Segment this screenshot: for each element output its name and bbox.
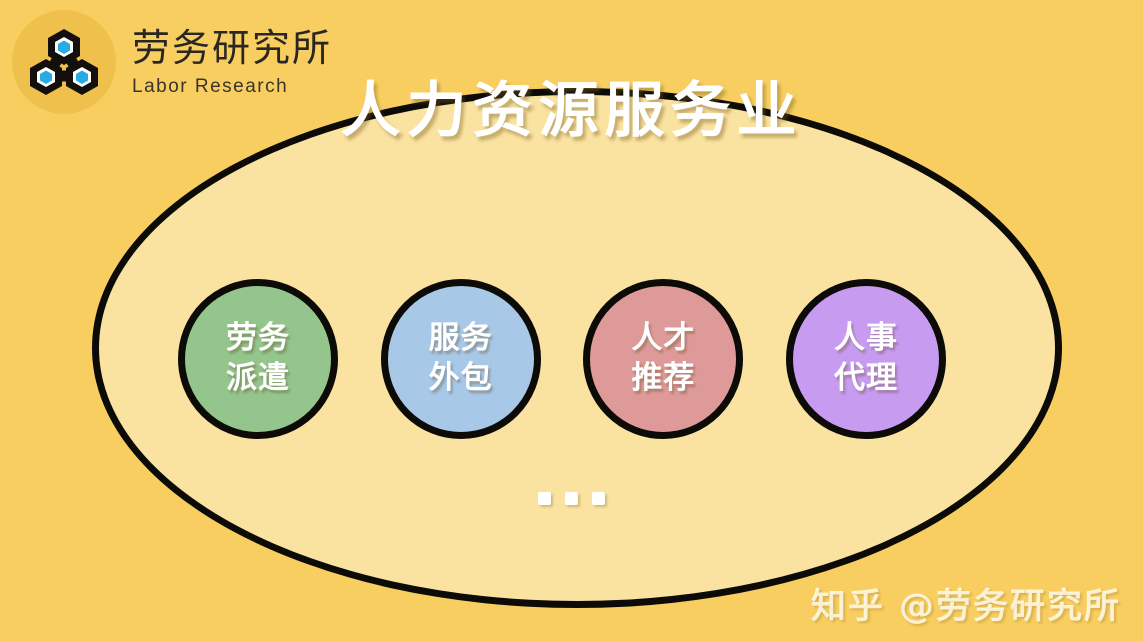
bubble-label-line1: 人才	[631, 319, 695, 359]
three-node-hexagon-network-icon	[12, 10, 116, 114]
bubble-label-line1: 服务	[429, 319, 493, 359]
bubble-label-line2: 外包	[429, 359, 493, 399]
bubble-label-line1: 人事	[834, 319, 898, 359]
watermark: 知乎 @劳务研究所	[811, 578, 1121, 629]
bubble-label-line1: 劳务	[226, 319, 290, 359]
service-bubble-service-outsourcing[interactable]: 服务 外包	[381, 279, 541, 439]
brand-text: 劳务研究所 Labor Research	[132, 29, 332, 96]
service-bubble-labor-dispatch[interactable]: 劳务 派遣	[178, 279, 338, 439]
service-bubble-talent-recommendation[interactable]: 人才 推荐	[583, 279, 743, 439]
infographic-poster: 劳务研究所 Labor Research 人力资源服务业 劳务 派遣 服务 外包…	[0, 0, 1143, 641]
bubble-label-line2: 推荐	[631, 359, 695, 399]
bubble-label-line2: 派遣	[226, 359, 290, 399]
ellipsis-dot	[565, 492, 578, 505]
bubble-label-line2: 代理	[834, 359, 898, 399]
service-bubble-row: 劳务 派遣 服务 外包 人才 推荐 人事 代理	[178, 278, 946, 440]
ellipsis-dot	[538, 492, 551, 505]
service-bubble-hr-agency[interactable]: 人事 代理	[786, 279, 946, 439]
brand-name-cn: 劳务研究所	[132, 29, 332, 67]
ellipsis-dots-icon	[0, 492, 1143, 505]
ellipsis-dot	[592, 492, 605, 505]
brand-logo-block: 劳务研究所 Labor Research	[12, 10, 332, 114]
brand-name-en: Labor Research	[132, 77, 332, 96]
